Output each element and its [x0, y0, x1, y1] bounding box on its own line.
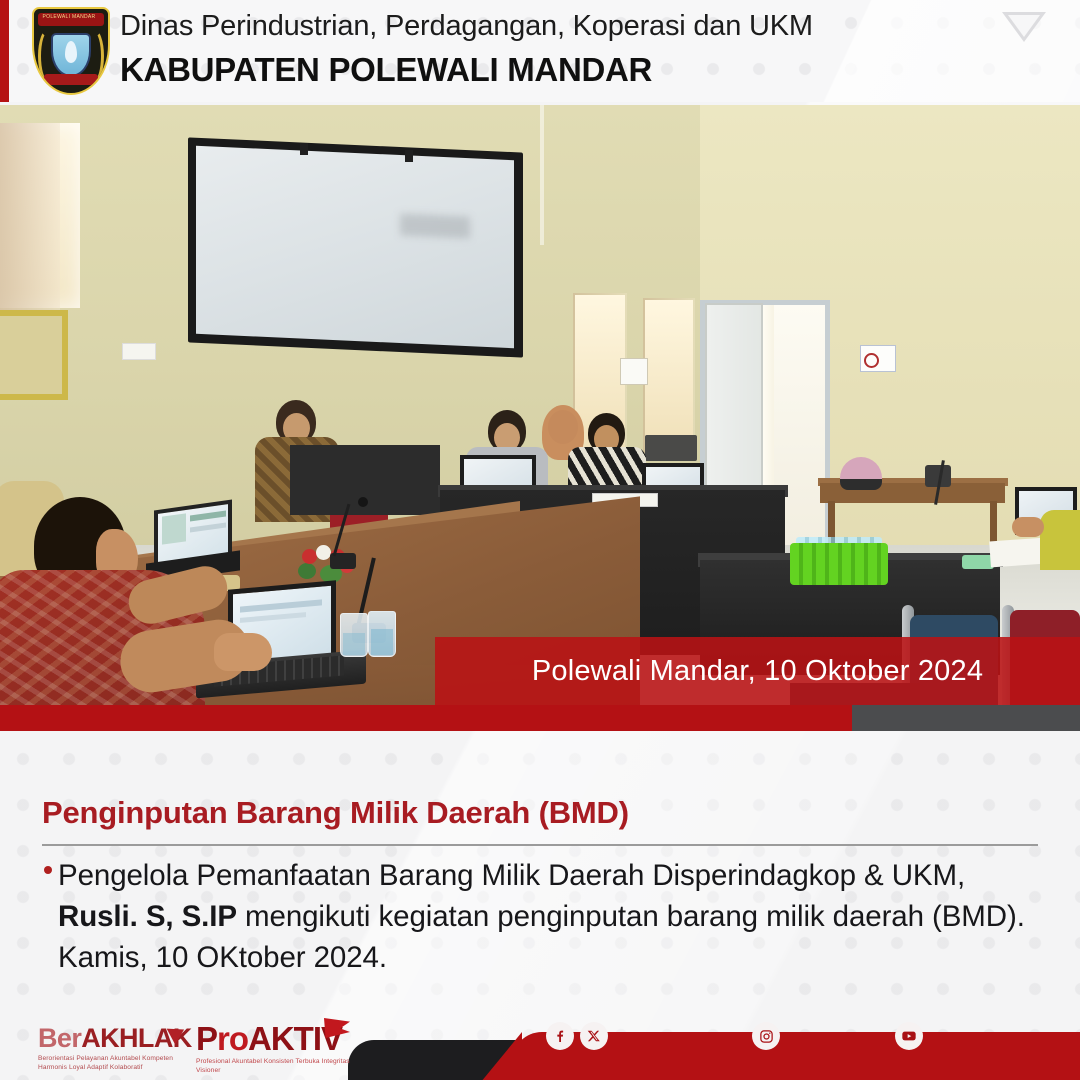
crest-ribbon	[44, 74, 98, 85]
content-section: Penginputan Barang Milik Daerah (BMD) Pe…	[0, 731, 1080, 1011]
photo-helmet-visor	[840, 479, 882, 490]
photo-window-mid-2	[645, 300, 693, 450]
proaktiv-tagline: Profesional Akuntabel Konsisten Terbuka …	[196, 1057, 354, 1075]
instagram-icon[interactable]	[752, 1022, 780, 1050]
photo-whiteboard-surface	[196, 146, 514, 348]
photo-whiteboard-smudge	[400, 213, 470, 238]
header-title-block: Dinas Perindustrian, Perdagangan, Kopera…	[120, 4, 813, 92]
photo-flower-white-1	[316, 545, 331, 560]
photo-green-item	[962, 555, 994, 569]
photo-flower-red-1	[302, 549, 317, 564]
berakhlak-logo: BerAKHLAK Berorientasi Pelayanan Akuntab…	[38, 1024, 188, 1072]
crest-droplet-icon	[65, 41, 77, 63]
header-department-name: Dinas Perindustrian, Perdagangan, Kopera…	[120, 4, 813, 48]
content-bullet-icon	[44, 866, 52, 874]
divider-strip	[0, 705, 1080, 731]
proaktiv-flag-icon	[324, 1018, 350, 1038]
content-body-person-name: Rusli. S, S.IP	[58, 900, 237, 933]
header-regency-name: KABUPATEN POLEWALI MANDAR	[120, 48, 813, 92]
facebook-icon[interactable]	[546, 1022, 574, 1050]
photo-whiteboard-clip-left	[300, 143, 308, 155]
page-footer: BerAKHLAK Berorientasi Pelayanan Akuntab…	[0, 1008, 1080, 1080]
berakhlak-tagline: Berorientasi Pelayanan Akuntabel Kompete…	[38, 1054, 186, 1072]
proaktiv-wordmark: ProAKTIV	[196, 1022, 356, 1056]
photo-person-hijab-face	[548, 410, 578, 444]
youtube-glyph	[901, 1028, 917, 1044]
photo-curtain-left	[0, 123, 60, 318]
header-left-red-bar	[0, 0, 9, 102]
x-twitter-icon[interactable]	[580, 1022, 608, 1050]
content-divider-rule	[42, 844, 1038, 846]
proaktiv-word-ro: ro	[217, 1020, 248, 1057]
photo-no-smoking-sign	[860, 345, 896, 372]
photo-equipment-box	[645, 435, 697, 461]
photo-flower-leaf-1	[298, 563, 316, 579]
x-twitter-glyph	[587, 1029, 601, 1043]
photo-window-frame-left	[0, 310, 68, 400]
photo-laptop-near-ui-panel	[162, 513, 186, 544]
crest-banner-text: POLEWALI MANDAR	[36, 11, 102, 24]
proaktiv-word-p: P	[196, 1020, 217, 1057]
instagram-glyph	[759, 1029, 774, 1044]
berakhlak-wordmark: BerAKHLAK	[38, 1024, 188, 1052]
photo-microphone-head-1	[358, 497, 368, 507]
photo-hand-far-right	[1012, 517, 1044, 537]
photo-foreground-person-hand	[214, 633, 272, 671]
photo-caption-bar: Polewali Mandar, 10 Oktober 2024	[435, 637, 1080, 705]
photo-water-glass-1-fill	[343, 633, 365, 655]
content-title: Penginputan Barang Milik Daerah (BMD)	[42, 795, 629, 831]
photo-whiteboard-clip-right	[405, 150, 413, 162]
youtube-icon[interactable]	[895, 1022, 923, 1050]
photo-ceiling-edge	[540, 105, 544, 245]
divider-strip-red	[0, 705, 852, 731]
divider-strip-gray	[852, 705, 1080, 731]
photo-green-crate	[790, 543, 888, 585]
triangle-down-icon-inner	[1008, 15, 1040, 37]
photo-water-glass-2-fill	[371, 629, 393, 655]
crest-shield-icon: POLEWALI MANDAR	[32, 7, 110, 95]
government-crest-logo: POLEWALI MANDAR	[32, 7, 114, 95]
poster-canvas: POLEWALI MANDAR Dinas Perindustrian, Per…	[0, 0, 1080, 1080]
content-body-part1: Pengelola Pemanfaatan Barang Milik Daera…	[58, 859, 965, 892]
proaktiv-logo: ProAKTIV Profesional Akuntabel Konsisten…	[196, 1022, 356, 1075]
photo-wall-certificate	[620, 358, 648, 385]
berakhlak-word-prefix: Ber	[38, 1023, 81, 1053]
page-header: POLEWALI MANDAR Dinas Perindustrian, Per…	[0, 0, 1080, 102]
photo-person-far-right	[1040, 510, 1080, 570]
photo-caption-text: Polewali Mandar, 10 Oktober 2024	[532, 655, 983, 688]
content-body-text: Pengelola Pemanfaatan Barang Milik Daera…	[58, 855, 1048, 978]
event-photo	[0, 105, 1080, 705]
photo-wall-note	[122, 343, 156, 360]
facebook-glyph	[552, 1028, 568, 1044]
